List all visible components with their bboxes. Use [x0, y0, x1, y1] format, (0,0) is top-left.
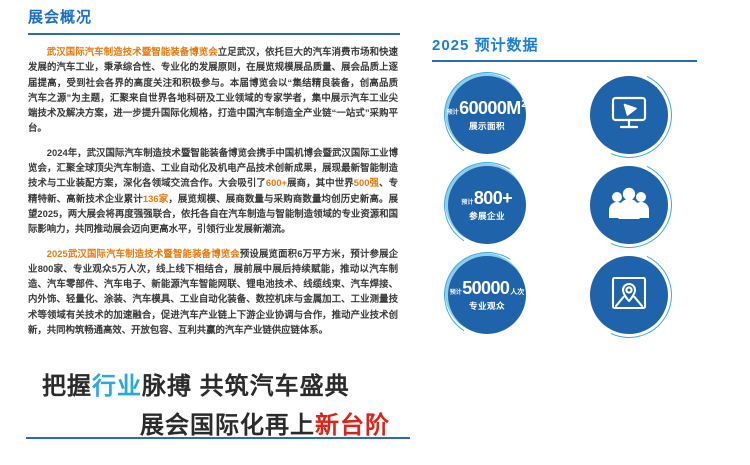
stat-icon-circle	[590, 256, 668, 334]
stat-row: 预计60000M2展示面积	[420, 72, 750, 162]
stat-value: 预计50000人次	[450, 278, 525, 299]
stat-value-circle: 预计50000人次专业观众	[448, 256, 526, 334]
stat-label: 参展企业	[469, 210, 505, 222]
slogan-run: 新台阶	[315, 412, 390, 439]
stat-unit-superscript: 2	[521, 98, 527, 110]
projected-data-divider	[432, 60, 697, 62]
slogan-block: 把握行业脉搏 共筑汽车盛典 展会国际化再上新台阶	[28, 366, 402, 440]
highlighted-text-run: 2025武汉国际汽车制造技术暨智能装备博览会	[47, 248, 240, 259]
poster-page: 展会概况 武汉国际汽车制造技术暨智能装备博览会立足武汉，依托巨大的汽车消费市场和…	[0, 0, 750, 465]
stat-row: 预计50000人次专业观众	[420, 252, 750, 342]
stat-label: 展示面积	[469, 120, 505, 132]
stat-prefix: 预计	[450, 287, 462, 296]
text-run: 预设展览面积6万平方米，预计参展企业800家、专业观众5万人次，线上线下相结合，…	[28, 248, 398, 335]
slogan-run: 展会国际化再上	[140, 412, 315, 439]
slogan-run: 把握	[42, 373, 92, 400]
stat-prefix: 预计	[461, 197, 473, 206]
bottom-divider	[26, 437, 410, 439]
slogan-run: 脉搏 共筑汽车盛典	[142, 373, 350, 400]
stat-number: 50000	[462, 278, 509, 299]
people-group-icon	[608, 187, 650, 224]
slogan-run: 行业	[92, 373, 142, 400]
stat-number: 60000	[459, 98, 506, 119]
section-title-divider	[28, 33, 400, 35]
slogan-line-1: 把握行业脉搏 共筑汽车盛典	[28, 366, 402, 401]
stat-icon-circle	[590, 166, 668, 244]
stat-prefix: 预计	[447, 107, 459, 116]
stat-value-circle: 预计800+参展企业	[448, 166, 526, 244]
stat-unit: M2	[506, 98, 527, 119]
stat-value: 预计60000M2	[447, 98, 528, 119]
stat-icon-circle	[590, 76, 668, 154]
overview-paragraph-2: 2024年，武汉国际汽车制造技术暨智能装备博览会携手中国机博会暨武汉国际工业博览…	[28, 145, 398, 237]
projected-data-panel: 2025 预计数据 预计60000M2展示面积预计800+参展企业预计50000…	[420, 0, 750, 465]
stat-label: 专业观众	[469, 300, 505, 312]
slogan-line-2: 展会国际化再上新台阶	[28, 405, 402, 440]
stat-value: 预计800+	[461, 188, 512, 209]
text-run: 展商，其中世界	[287, 177, 354, 188]
map-location-pin-icon	[610, 275, 648, 316]
monitor-presentation-icon	[609, 95, 649, 136]
text-run: 立足武汉，依托巨大的汽车消费市场和快速发展的汽车工业，秉承综合性、专业化的发展原…	[28, 46, 398, 133]
stat-small-unit: 人次	[510, 287, 524, 297]
projected-data-title: 2025 预计数据	[432, 34, 539, 55]
overview-paragraph-1: 武汉国际汽车制造技术暨智能装备博览会立足武汉，依托巨大的汽车消费市场和快速发展的…	[28, 44, 398, 136]
stat-value-circle: 预计60000M2展示面积	[448, 76, 526, 154]
exhibition-overview-panel: 展会概况 武汉国际汽车制造技术暨智能装备博览会立足武汉，依托巨大的汽车消费市场和…	[0, 0, 420, 465]
stat-row: 预计800+参展企业	[420, 162, 750, 252]
highlighted-text-run: 600+	[266, 177, 287, 188]
highlighted-text-run: 武汉国际汽车制造技术暨智能装备博览会	[47, 46, 218, 57]
highlighted-text-run: 500强	[354, 177, 379, 188]
stat-number: 800	[474, 188, 502, 209]
highlighted-text-run: 136家	[143, 193, 168, 204]
page-title: 展会概况	[28, 8, 398, 28]
stats-list: 预计60000M2展示面积预计800+参展企业预计50000人次专业观众	[420, 72, 750, 342]
overview-paragraph-3: 2025武汉国际汽车制造技术暨智能装备博览会预设展览面积6万平方米，预计参展企业…	[28, 246, 398, 338]
stat-unit: +	[502, 188, 513, 209]
